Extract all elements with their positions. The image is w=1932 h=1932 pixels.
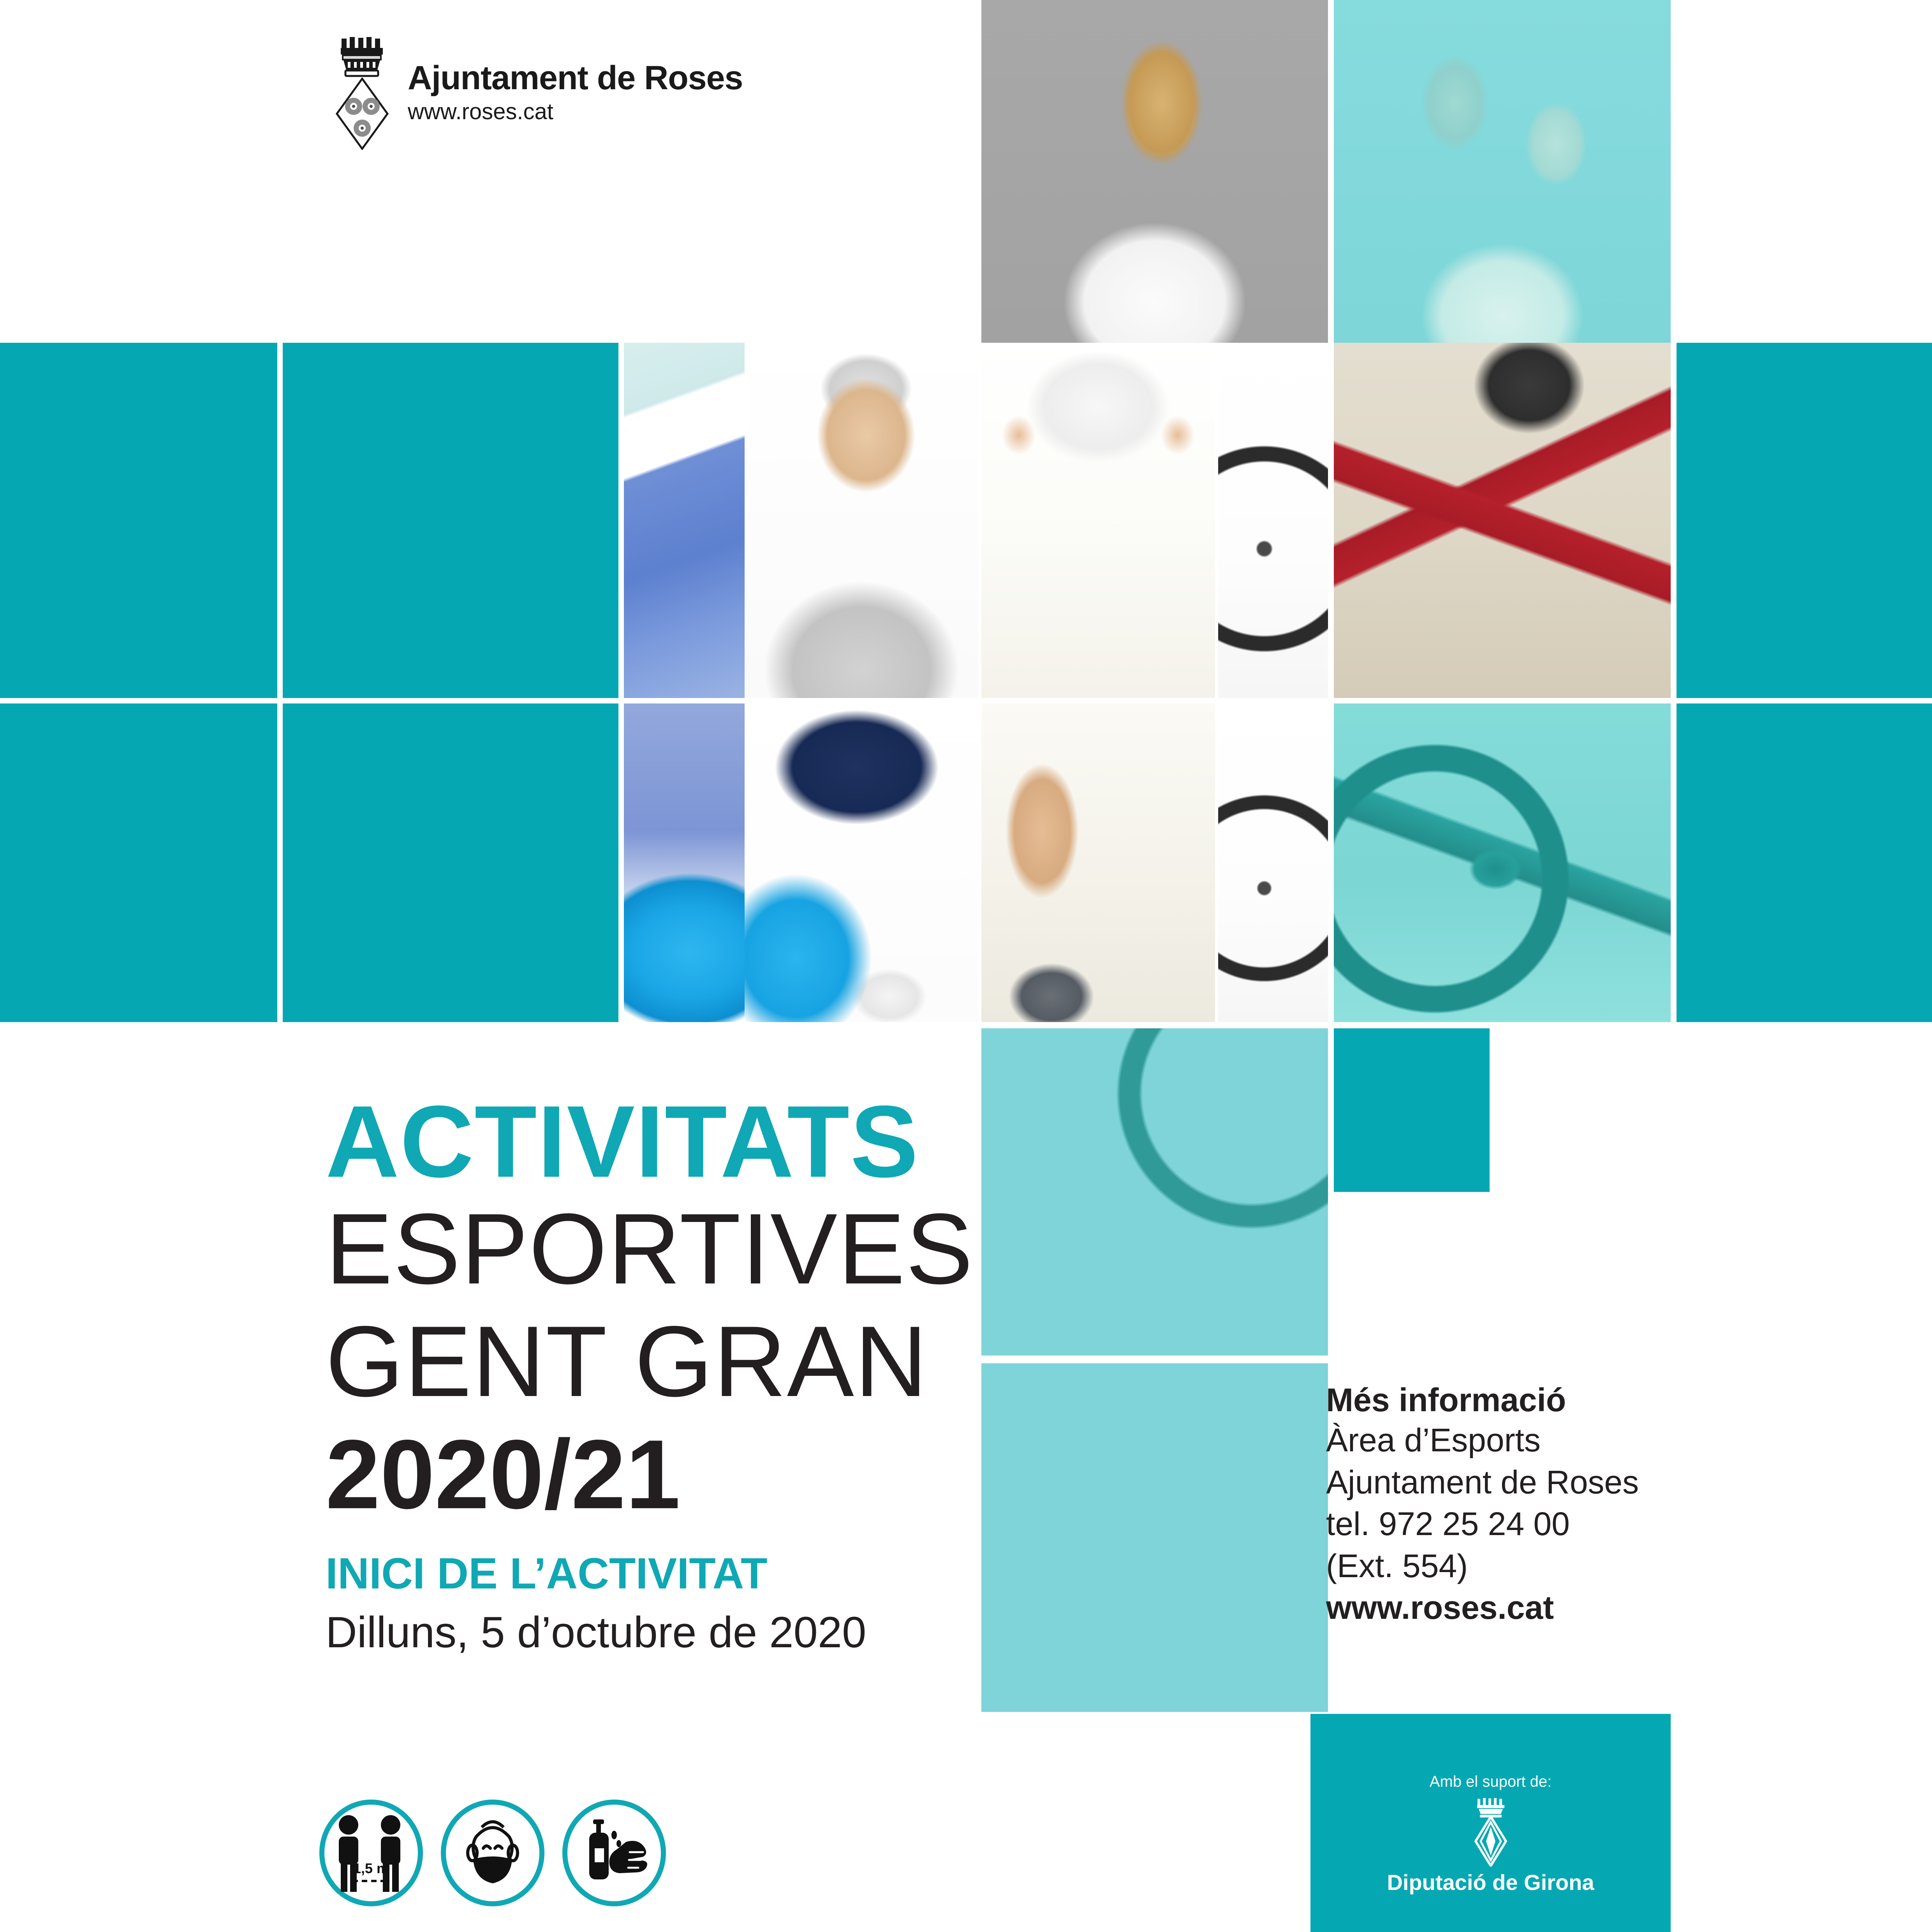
photo-senior-couple-teal [1334,0,1671,343]
logo-text-group: Ajuntament de Roses www.roses.cat [408,61,743,126]
color-block-teal-r1c1 [0,343,277,698]
headline-line-esportives: ESPORTIVES [326,1193,964,1305]
diputacio-crown-icon [1476,1798,1505,1818]
support-block: Amb el suport de: Diputació de Girona [1310,1714,1671,1932]
color-block-teal-r2c7 [1677,703,1932,1022]
face-mask-icon [441,1800,544,1906]
roses-crest-icon [333,37,391,150]
headline-block: ACTIVITATS ESPORTIVES GENT GRAN 2020/21 … [326,1091,964,1658]
color-block-teal-r2c2 [283,703,618,1022]
headline-line-activitats: ACTIVITATS [326,1091,964,1193]
photo-exercise-ball-edge [624,703,745,1022]
color-block-light-teal-lower [981,1363,1328,1712]
diamond-shield-icon [335,78,389,150]
color-block-light-teal-upper [981,1028,1328,1356]
photo-couple-red-bike [1334,343,1671,698]
crown-icon [339,37,385,78]
headline-line-year: 2020/21 [326,1418,964,1532]
color-block-teal-r1c7 [1677,343,1932,698]
support-label: Amb el suport de: [1310,1773,1671,1791]
hand-sanitizer-icon [562,1800,666,1906]
activity-start-label: INICI DE L’ACTIVITAT [326,1549,964,1597]
photo-woman-blue-pants [624,343,745,698]
photo-man-on-ball [745,703,978,1022]
social-distance-icon: 1,5 m [319,1800,423,1906]
logo-organisation-name: Ajuntament de Roses [408,61,743,95]
photo-legs-white-pants [981,703,1215,1022]
contact-heading: Més informació [1326,1381,1677,1419]
color-block-teal-r2c1 [0,703,277,1022]
photo-woman-white-outfit [981,343,1215,698]
ajuntament-logo: Ajuntament de Roses www.roses.cat [333,37,743,150]
contact-website[interactable]: www.roses.cat [1326,1587,1677,1629]
photo-woman-portrait [981,0,1328,343]
photo-bicycle-wheel [1218,703,1328,1022]
contact-extension: (Ext. 554) [1326,1545,1677,1587]
contact-telephone: tel. 972 25 24 00 [1326,1503,1677,1545]
color-block-teal-square [1334,1028,1490,1192]
color-block-teal-r1c2 [283,343,618,698]
photo-bike-teal-tint [1334,703,1671,1022]
covid-measures-group: 1,5 m [319,1800,666,1906]
poster: Ajuntament de Roses www.roses.cat ACTIVI… [0,0,1932,1932]
contact-organisation: Ajuntament de Roses [1326,1461,1677,1504]
diputacio-diamond-icon [1474,1816,1507,1867]
contact-block: Més informació Àrea d’Esports Ajuntament… [1326,1381,1677,1629]
social-distance-label: 1,5 m [353,1860,389,1876]
photo-bicycle-front [1218,343,1328,698]
photo-man-smiling [745,343,978,698]
activity-start-date: Dilluns, 5 d’octubre de 2020 [326,1608,964,1658]
logo-website-url: www.roses.cat [408,98,743,126]
headline-line-gent-gran: GENT GRAN [326,1305,964,1418]
support-organisation-name: Diputació de Girona [1310,1870,1671,1895]
contact-department: Àrea d’Esports [1326,1419,1677,1461]
